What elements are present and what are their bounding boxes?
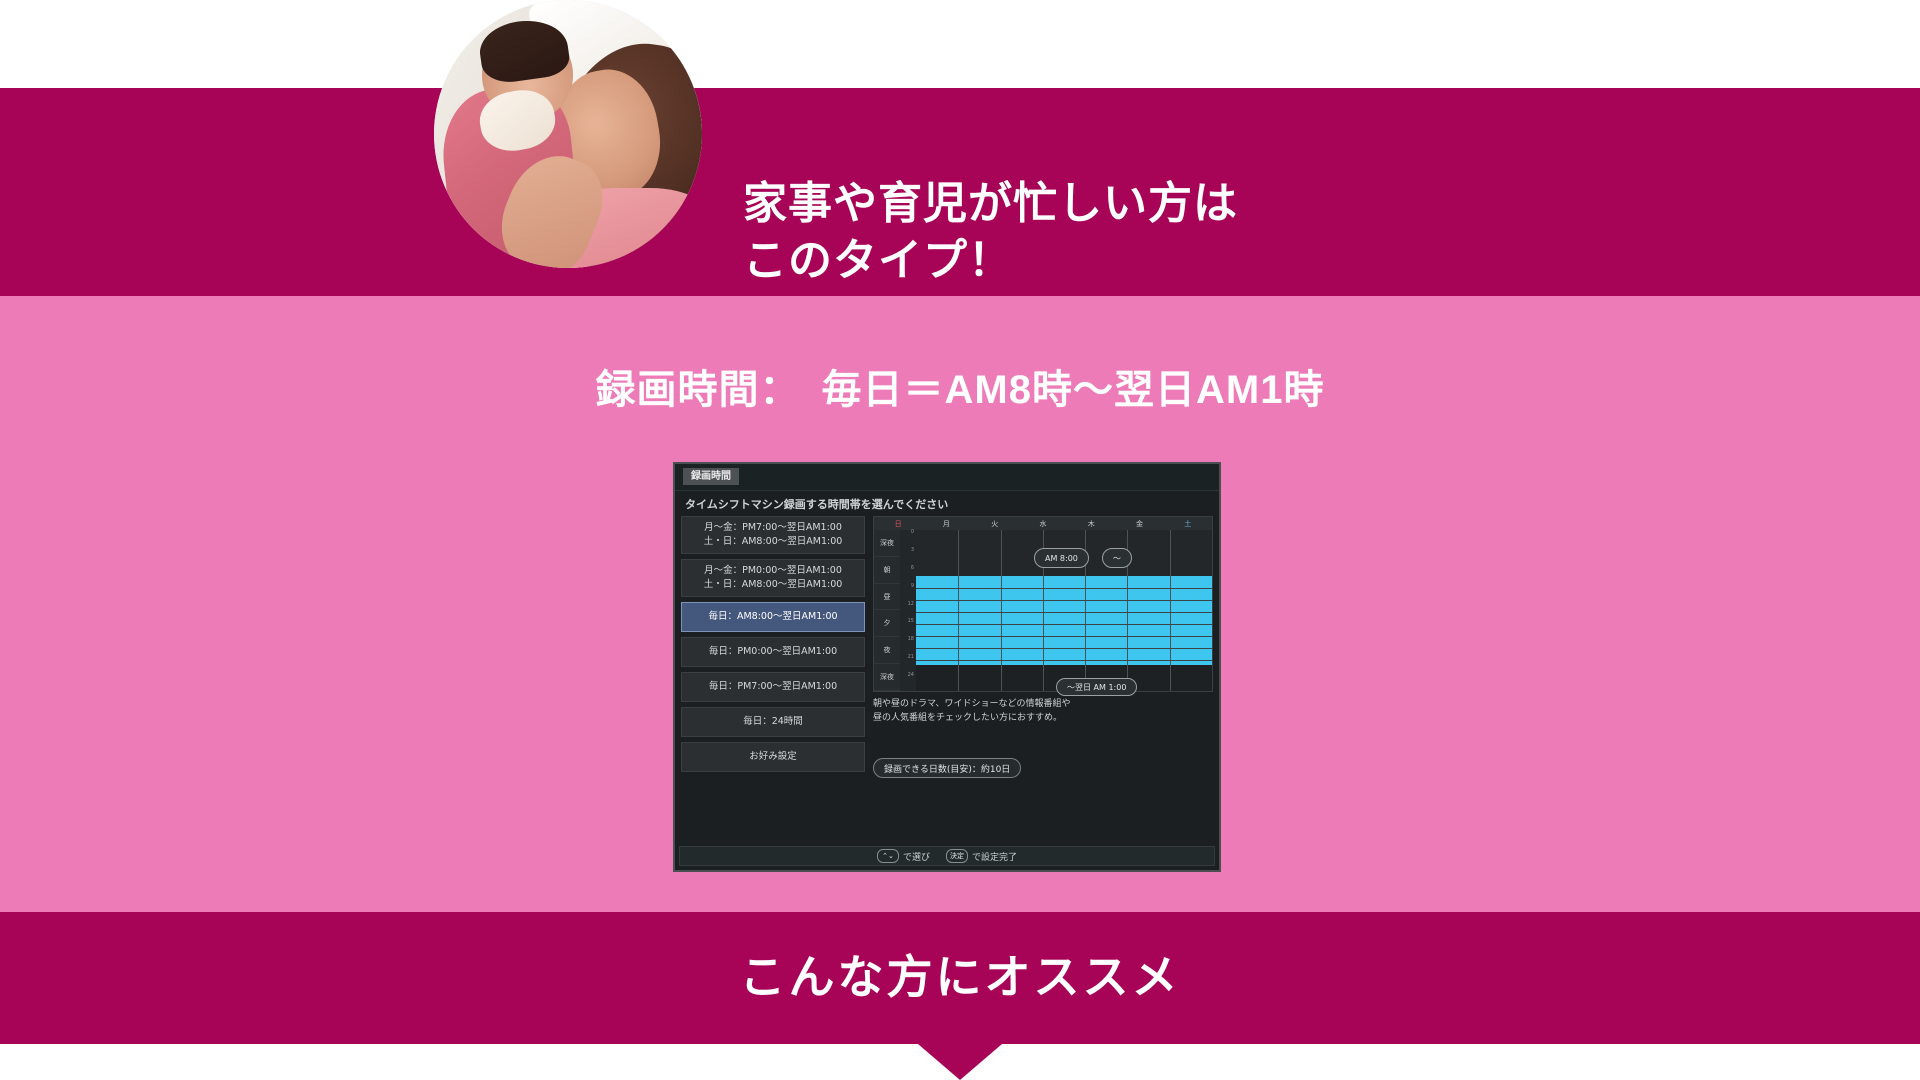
axis-label: 夜 [874, 637, 900, 664]
axis-label: 朝 [874, 557, 900, 584]
hour-tick: 3 [900, 548, 916, 566]
page-title: 家事や育児が忙しい方は このタイプ！ [743, 118, 1238, 347]
day-label-fri: 金 [1115, 519, 1163, 529]
device-title: 録画時間 [683, 468, 739, 485]
list-item-selected[interactable]: 毎日：AM8:00～翌日AM1:00 [681, 602, 865, 632]
dpad-icon: ⌃⌄ [877, 849, 899, 863]
footer-banner-text: こんな方にオススメ [0, 941, 1920, 1007]
device-footer-bar: ⌃⌄ で選び 決定 で設定完了 [679, 846, 1215, 866]
preset-line: 毎日：PM7:00～翌日AM1:00 [709, 680, 837, 694]
device-title-bar: 録画時間 [675, 464, 1219, 491]
preset-line: 月～金：PM7:00～翌日AM1:00 [704, 521, 842, 535]
range-separator-badge: ～ [1102, 548, 1132, 568]
preset-line: 月～金：PM0:00～翌日AM1:00 [704, 564, 842, 578]
day-label-sat: 土 [1164, 519, 1212, 529]
axis-label: 昼 [874, 584, 900, 611]
day-label-thu: 木 [1067, 519, 1115, 529]
footer-confirm-label: で設定完了 [972, 850, 1017, 863]
preset-line: 土・日：AM8:00～翌日AM1:00 [704, 578, 843, 592]
time-of-day-axis: 深夜 朝 昼 夕 夜 深夜 [874, 530, 900, 691]
day-header-row: 日 月 火 水 木 金 土 [874, 517, 1212, 530]
hour-tick: 18 [900, 637, 916, 655]
promo-page: 家事や育児が忙しい方は このタイプ！ 録画時間： 毎日＝AM8時～翌日AM1時 … [0, 0, 1920, 1080]
hour-tick-axis: 0 3 6 9 12 15 18 21 24 [900, 530, 916, 691]
preset-description: 朝や昼のドラマ、ワイドショーなどの情報番組や 昼の人気番組をチェックしたい方にお… [873, 698, 1213, 754]
mother-baby-photo [434, 0, 702, 268]
axis-label: 夕 [874, 610, 900, 637]
enter-key-icon: 決定 [946, 849, 968, 863]
device-main: 月～金：PM7:00～翌日AM1:00 土・日：AM8:00～翌日AM1:00 … [681, 516, 1213, 842]
preset-line: 毎日：PM0:00～翌日AM1:00 [709, 645, 837, 659]
list-item[interactable]: 月～金：PM7:00～翌日AM1:00 土・日：AM8:00～翌日AM1:00 [681, 516, 865, 554]
day-label-wed: 水 [1019, 519, 1067, 529]
header-line-1: 家事や育児が忙しい方は [743, 179, 1238, 228]
chart-recording-region [916, 576, 1212, 665]
hour-tick: 21 [900, 655, 916, 673]
recording-preset-list: 月～金：PM7:00～翌日AM1:00 土・日：AM8:00～翌日AM1:00 … [681, 516, 865, 777]
hour-tick: 0 [900, 530, 916, 548]
description-line-2: 昼の人気番組をチェックしたい方におすすめ。 [873, 712, 1213, 726]
list-item[interactable]: 毎日：24時間 [681, 707, 865, 737]
hour-tick: 24 [900, 673, 916, 691]
schedule-chart: 日 月 火 水 木 金 土 深夜 朝 昼 夕 夜 深夜 [873, 516, 1213, 692]
preset-line: 毎日：AM8:00～翌日AM1:00 [708, 610, 837, 624]
chart-plot-area: AM 8:00 ～ ～翌日 AM 1:00 [916, 530, 1212, 691]
header-line-2: このタイプ！ [743, 232, 1238, 289]
preset-line: 毎日：24時間 [743, 715, 803, 729]
end-time-badge: ～翌日 AM 1:00 [1056, 678, 1137, 696]
recordable-days-badge: 録画できる日数(目安)：約10日 [873, 758, 1021, 778]
axis-label: 深夜 [874, 530, 900, 557]
hour-tick: 15 [900, 619, 916, 637]
footer-select-hint: ⌃⌄ で選び [877, 849, 930, 863]
list-item[interactable]: お好み設定 [681, 742, 865, 772]
day-label-mon: 月 [922, 519, 970, 529]
list-item[interactable]: 毎日：PM7:00～翌日AM1:00 [681, 672, 865, 702]
description-line-1: 朝や昼のドラマ、ワイドショーなどの情報番組や [873, 698, 1213, 712]
hour-tick: 6 [900, 566, 916, 584]
device-screenshot: 録画時間 タイムシフトマシン録画する時間帯を選んでください 月～金：PM7:00… [673, 462, 1221, 872]
preset-line: 土・日：AM8:00～翌日AM1:00 [704, 535, 843, 549]
preset-line: お好み設定 [749, 750, 797, 764]
arrow-down-icon [918, 1044, 1002, 1080]
device-subtitle: タイムシフトマシン録画する時間帯を選んでください [685, 496, 948, 512]
list-item[interactable]: 毎日：PM0:00～翌日AM1:00 [681, 637, 865, 667]
day-label-tue: 火 [971, 519, 1019, 529]
footer-select-label: で選び [903, 850, 930, 863]
footer-confirm-hint: 決定 で設定完了 [946, 849, 1017, 863]
hour-tick: 12 [900, 602, 916, 620]
start-time-badge: AM 8:00 [1034, 548, 1089, 568]
day-label-sun: 日 [874, 519, 922, 529]
hour-tick: 9 [900, 584, 916, 602]
axis-label: 深夜 [874, 664, 900, 691]
recording-time-label: 録画時間： 毎日＝AM8時～翌日AM1時 [0, 357, 1920, 415]
avatar [434, 0, 702, 268]
list-item[interactable]: 月～金：PM0:00～翌日AM1:00 土・日：AM8:00～翌日AM1:00 [681, 559, 865, 597]
schedule-chart-column: 日 月 火 水 木 金 土 深夜 朝 昼 夕 夜 深夜 [873, 516, 1213, 842]
